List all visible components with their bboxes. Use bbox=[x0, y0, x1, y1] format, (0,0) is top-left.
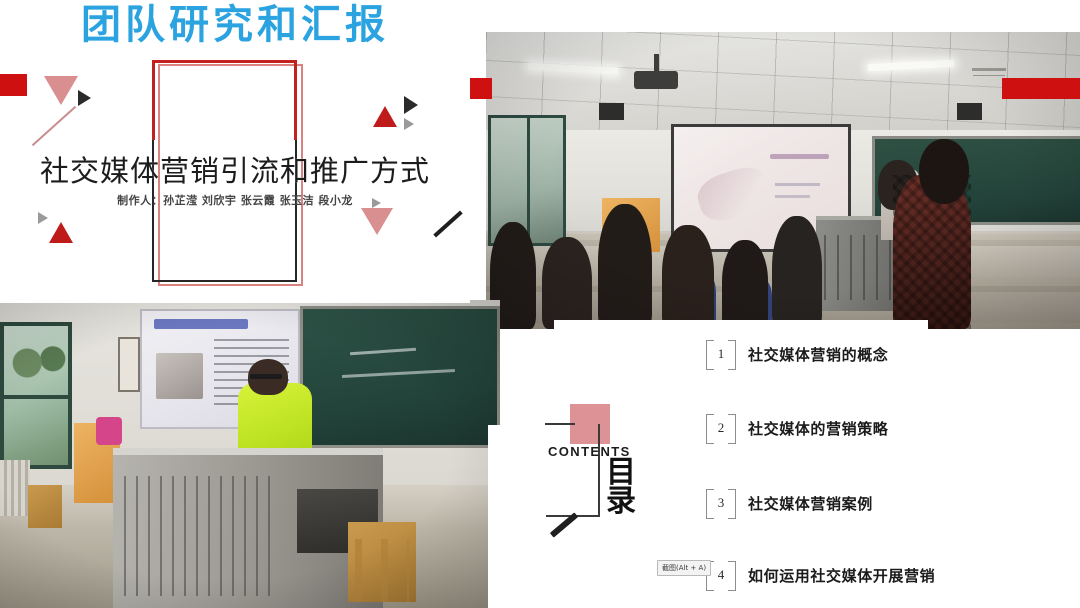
classroom-student-presenter-photo bbox=[0, 300, 500, 608]
photo-vignette bbox=[486, 32, 1080, 329]
toc-number-bracket-2: 2 bbox=[706, 414, 736, 442]
toc-number-1: 1 bbox=[718, 346, 725, 362]
photo-vignette bbox=[0, 300, 500, 608]
decor-frame-red-top bbox=[152, 60, 297, 140]
toc-label-4: 如何运用社交媒体开展营销 bbox=[748, 565, 935, 586]
toc-number-bracket-3: 3 bbox=[706, 489, 736, 517]
contents-panel-upper bbox=[554, 320, 928, 425]
decor-triangle-red bbox=[49, 222, 73, 243]
toc-item-4[interactable]: 4 如何运用社交媒体开展营销 bbox=[706, 561, 935, 589]
toc-number-3: 3 bbox=[718, 495, 725, 511]
toc-label-1: 社交媒体营销的概念 bbox=[748, 344, 888, 365]
decor-red-block-right bbox=[1002, 78, 1080, 99]
decor-line-vertical bbox=[598, 424, 600, 516]
decor-triangle-red bbox=[373, 106, 397, 127]
toc-item-3[interactable]: 3 社交媒体营销案例 bbox=[706, 489, 873, 517]
decor-triangle-pink bbox=[361, 208, 393, 235]
decor-line-pink bbox=[32, 106, 76, 146]
decor-line-dark bbox=[433, 210, 462, 237]
slide-subtitle-authors: 制作人：孙芷滢 刘欣宇 张云霞 张玉洁 段小龙 bbox=[0, 192, 470, 208]
toc-number-2: 2 bbox=[718, 420, 725, 436]
slide-main-title: 社交媒体营销引流和推广方式 bbox=[0, 148, 470, 190]
classroom-presentation-photo bbox=[486, 32, 1080, 329]
contents-label-cn: 目录 bbox=[606, 458, 640, 517]
snip-tool-tooltip[interactable]: 截图(Alt + A) bbox=[657, 560, 711, 576]
toc-label-2: 社交媒体的营销策略 bbox=[748, 418, 888, 439]
decor-triangle-gray bbox=[38, 212, 48, 224]
decor-line-top bbox=[545, 423, 575, 425]
decor-pink-square bbox=[570, 404, 610, 444]
decor-triangle-dark bbox=[78, 90, 91, 106]
toc-number-bracket-1: 1 bbox=[706, 340, 736, 368]
decor-triangle-gray bbox=[404, 118, 414, 130]
toc-item-1[interactable]: 1 社交媒体营销的概念 bbox=[706, 340, 888, 368]
decor-red-block-left bbox=[0, 74, 27, 96]
decor-triangle-pink bbox=[44, 76, 78, 105]
decor-red-block-middle bbox=[470, 78, 492, 99]
title-slide: 团队研究和汇报 社交媒体营销引流和推广方式 制作人：孙芷滢 刘欣宇 张云霞 张玉… bbox=[0, 0, 470, 303]
toc-item-2[interactable]: 2 社交媒体的营销策略 bbox=[706, 414, 888, 442]
page-title: 团队研究和汇报 bbox=[0, 4, 470, 46]
screenshot-stage: 团队研究和汇报 社交媒体营销引流和推广方式 制作人：孙芷滢 刘欣宇 张云霞 张玉… bbox=[0, 0, 1080, 608]
toc-number-4: 4 bbox=[718, 567, 725, 583]
decor-triangle-dark bbox=[404, 96, 418, 114]
toc-label-3: 社交媒体营销案例 bbox=[748, 493, 873, 514]
